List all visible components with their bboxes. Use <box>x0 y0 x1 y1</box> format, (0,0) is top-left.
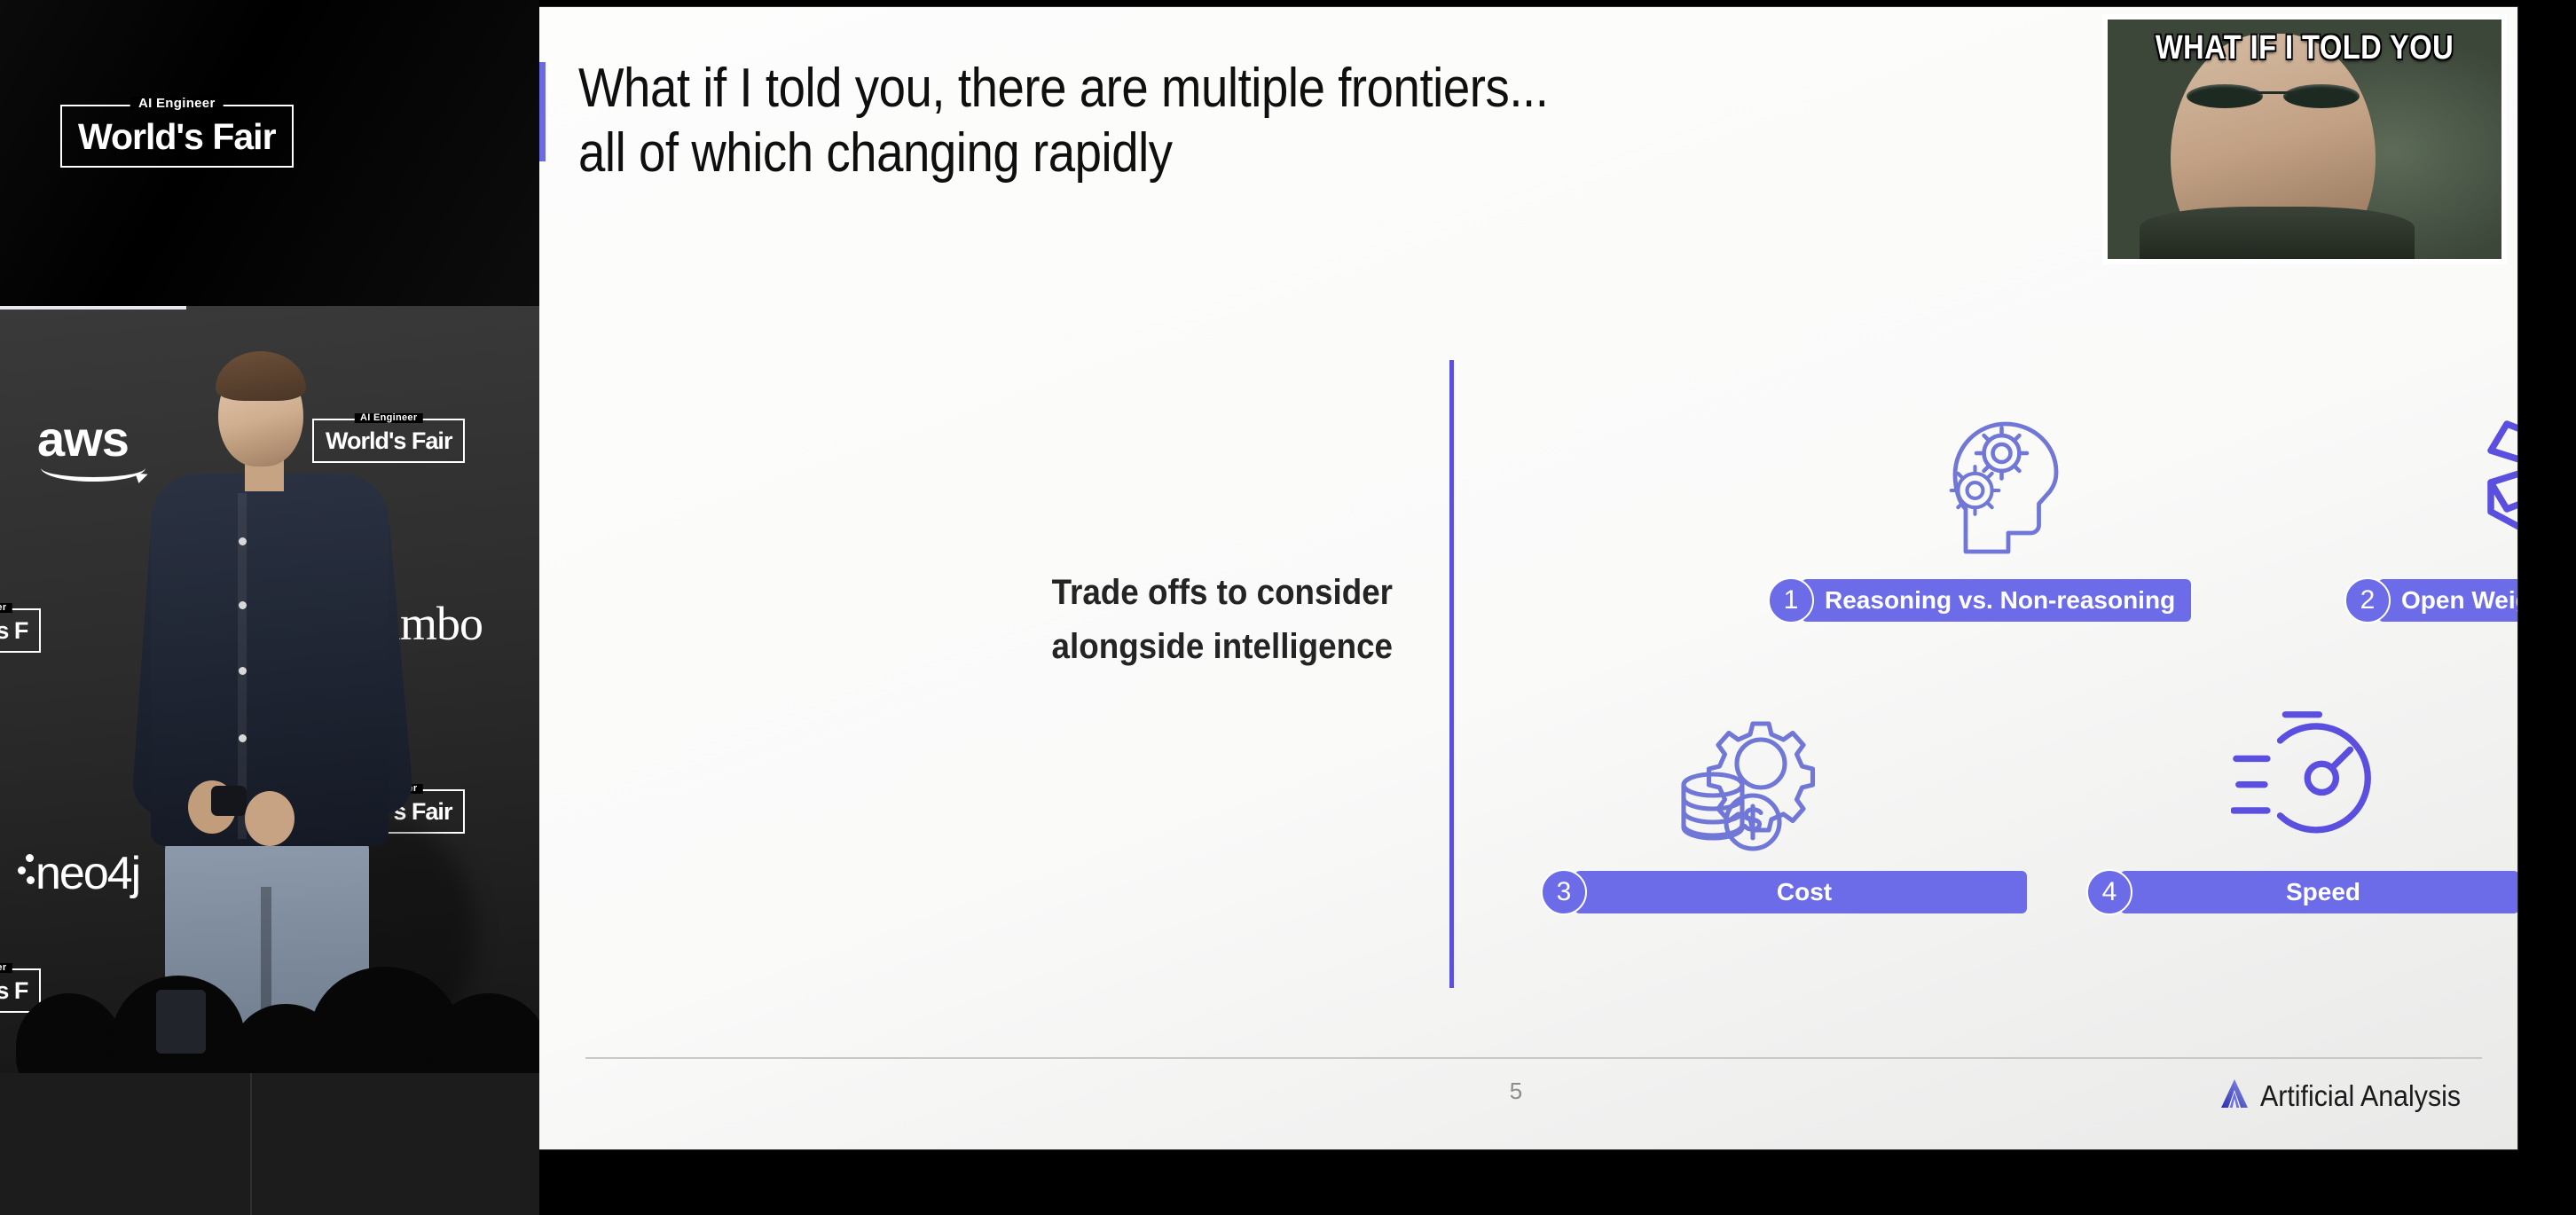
event-logo-kicker: AI Engineer <box>130 97 224 110</box>
slide-title-line-2: all of which changing rapidly <box>578 121 1796 185</box>
audience-phone <box>156 990 206 1054</box>
artificial-analysis-chevron-logo <box>2219 1078 2250 1114</box>
head-gears-icon <box>1911 371 2106 557</box>
slide-title-line-1: What if I told you, there are multiple f… <box>578 56 1796 121</box>
meme-caption: WHAT IF I TOLD YOU <box>2135 29 2474 67</box>
page-number: 5 <box>1510 1078 1522 1105</box>
item-number-badge-4: 4 <box>2086 869 2132 915</box>
presenter-clicker <box>211 786 247 816</box>
speaker-video-panel[interactable]: AI Engineer World's Fair aws AI Engineer… <box>0 0 539 1073</box>
slide-title: What if I told you, there are multiple f… <box>578 56 1796 185</box>
item-number-badge-1: 1 <box>1768 577 1814 623</box>
footer-divider <box>585 1057 2482 1059</box>
event-logo-name: World's Fair <box>78 119 276 155</box>
item-label-1: Reasoning vs. Non-reasoning <box>1802 579 2191 622</box>
presenter-figure <box>151 474 389 846</box>
bottom-strip <box>0 1073 539 1215</box>
morpheus-meme-image: WHAT IF I TOLD YOU <box>2102 14 2507 264</box>
item-label-3: Cost <box>1575 871 2027 913</box>
open-box-icon <box>2444 371 2517 557</box>
gear-coins-icon <box>1650 668 1845 854</box>
backdrop-event-logo-2: AI Engineer World's F <box>0 608 41 653</box>
brand-name: Artificial Analysis <box>2260 1079 2461 1113</box>
backdrop-event-logo-1: AI Engineer World's Fair <box>312 419 465 463</box>
event-logo-main: AI Engineer World's Fair <box>60 105 294 168</box>
item-pill-2[interactable]: 2 Open Weights vs. Proprietary <box>2344 577 2517 623</box>
speedometer-icon <box>2213 668 2417 854</box>
section-divider <box>1449 360 1454 988</box>
tradeoffs-label: Trade offs to consider alongside intelli… <box>1041 566 1393 674</box>
audience-silhouettes <box>0 940 539 1073</box>
item-pill-1[interactable]: 1 Reasoning vs. Non-reasoning <box>1768 577 2191 623</box>
item-label-4: Speed <box>2120 871 2517 913</box>
item-pill-3[interactable]: 3 Cost <box>1541 869 2027 915</box>
item-number-badge-2: 2 <box>2344 577 2391 623</box>
screen: What if I told you, there are multiple f… <box>0 0 2576 1215</box>
item-pill-4[interactable]: 4 Speed <box>2086 869 2517 915</box>
brand-logo: Artificial Analysis <box>2219 1078 2478 1114</box>
presentation-slide: What if I told you, there are multiple f… <box>514 7 2517 1149</box>
item-number-badge-3: 3 <box>1541 869 1587 915</box>
item-label-2: Open Weights vs. Proprietary <box>2378 579 2517 622</box>
sunglasses-icon <box>2187 84 2360 108</box>
